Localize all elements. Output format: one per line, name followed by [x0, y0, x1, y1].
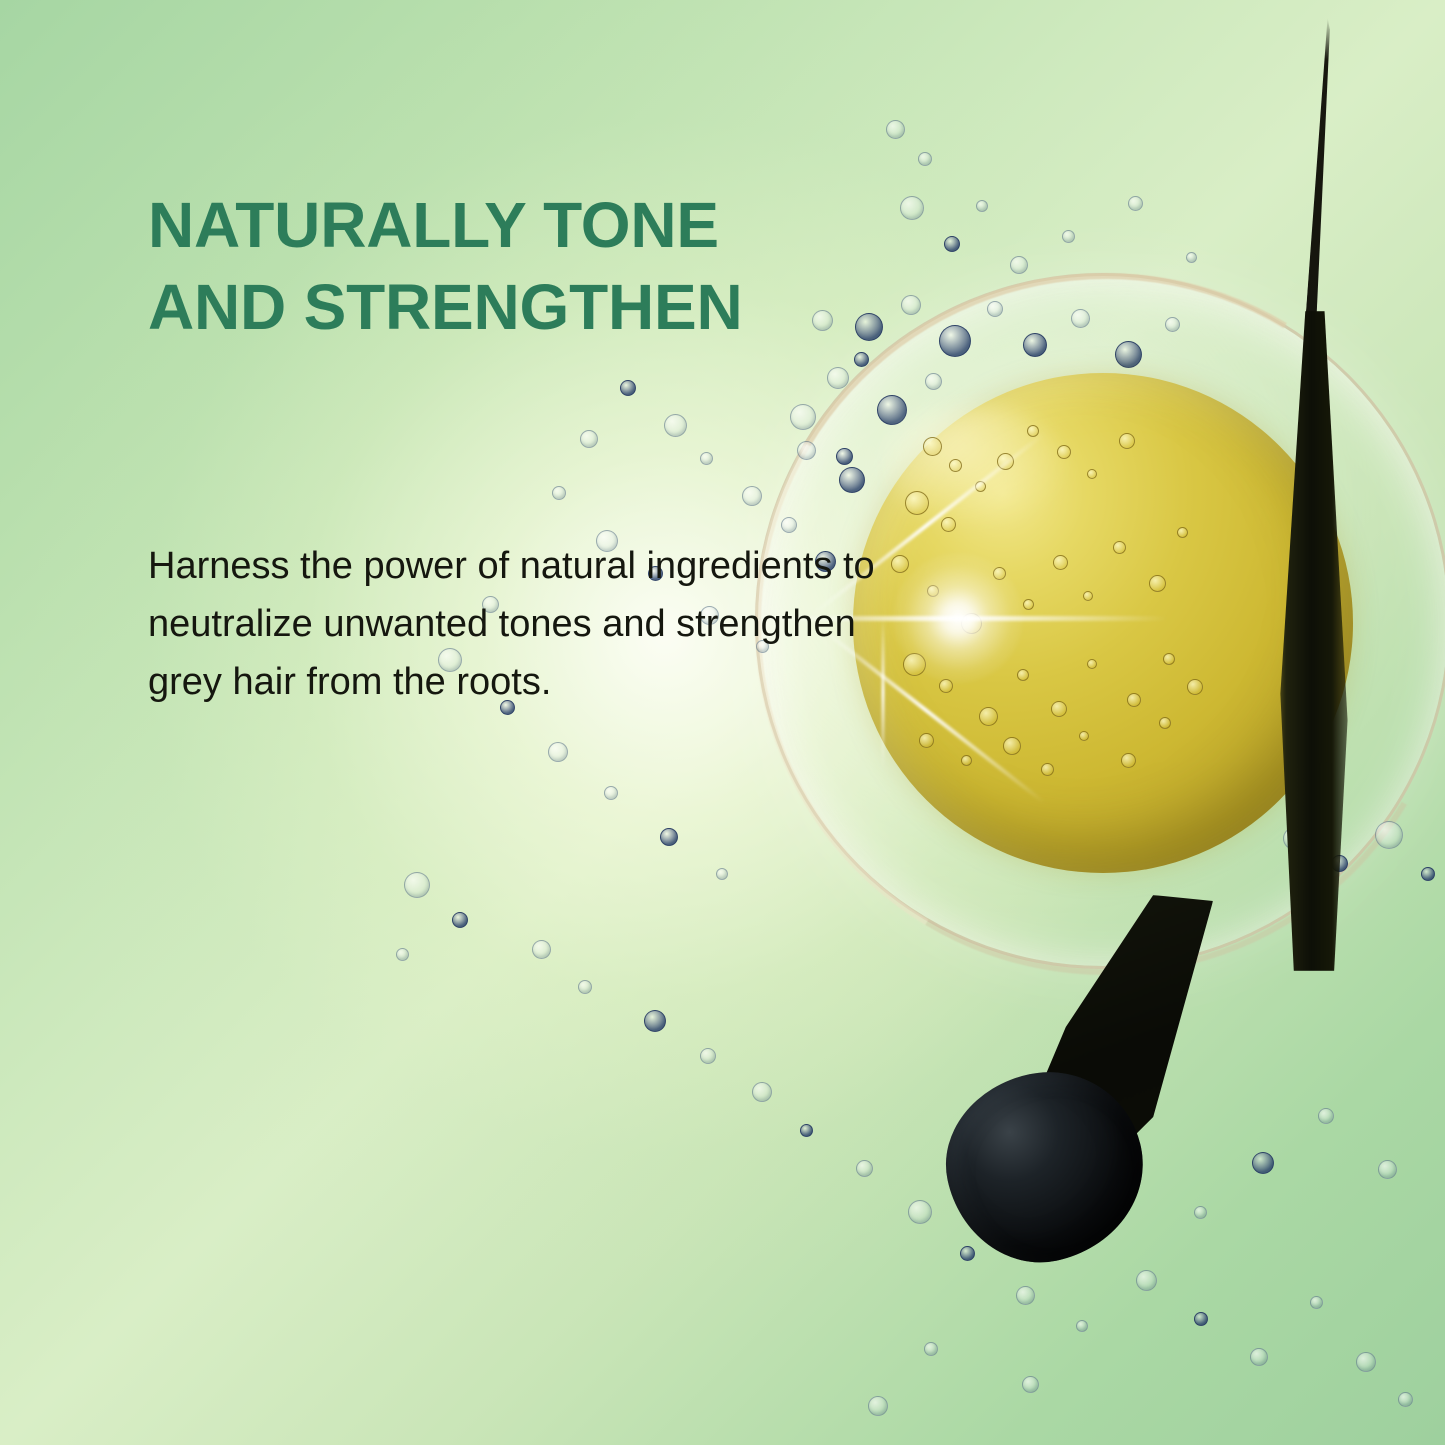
- splash-droplet: [700, 1048, 716, 1064]
- shell-bubble: [1421, 867, 1435, 881]
- splash-droplet: [918, 152, 932, 166]
- splash-droplet: [548, 742, 568, 762]
- splash-droplet: [532, 940, 551, 959]
- splash-droplet: [700, 452, 713, 465]
- splash-droplet: [1398, 1392, 1413, 1407]
- splash-droplet: [1022, 1376, 1039, 1393]
- hair-strand-tip: [1291, 16, 1338, 317]
- splash-droplet: [620, 380, 636, 396]
- splash-droplet: [1356, 1352, 1376, 1372]
- splash-droplet: [1250, 1348, 1268, 1366]
- splash-droplet: [900, 196, 924, 220]
- splash-droplet: [452, 912, 468, 928]
- splash-droplet: [580, 430, 598, 448]
- splash-droplet: [660, 828, 678, 846]
- page-title: NATURALLY TONE AND STRENGTHEN: [148, 185, 848, 349]
- splash-droplet: [644, 1010, 666, 1032]
- splash-droplet: [976, 200, 988, 212]
- splash-droplet: [604, 786, 618, 800]
- splash-droplet: [1062, 230, 1075, 243]
- product-visual: [735, 255, 1445, 1285]
- splash-droplet: [1128, 196, 1143, 211]
- splash-droplet: [944, 236, 960, 252]
- splash-droplet: [1194, 1312, 1208, 1326]
- splash-droplet: [1016, 1286, 1035, 1305]
- splash-droplet: [552, 486, 566, 500]
- oil-sheen-highlight: [885, 405, 1065, 525]
- splash-droplet: [578, 980, 592, 994]
- splash-droplet: [664, 414, 687, 437]
- splash-droplet: [716, 868, 728, 880]
- splash-droplet: [396, 948, 409, 961]
- splash-droplet: [1310, 1296, 1323, 1309]
- splash-droplet: [1076, 1320, 1088, 1332]
- shell-bubble: [855, 313, 883, 341]
- infographic-canvas: NATURALLY TONE AND STRENGTHEN Harness th…: [0, 0, 1445, 1445]
- splash-droplet: [886, 120, 905, 139]
- splash-droplet: [868, 1396, 888, 1416]
- splash-droplet: [404, 872, 430, 898]
- splash-droplet: [924, 1342, 938, 1356]
- body-copy: Harness the power of natural ingredients…: [148, 538, 908, 711]
- shell-bubble: [901, 295, 921, 315]
